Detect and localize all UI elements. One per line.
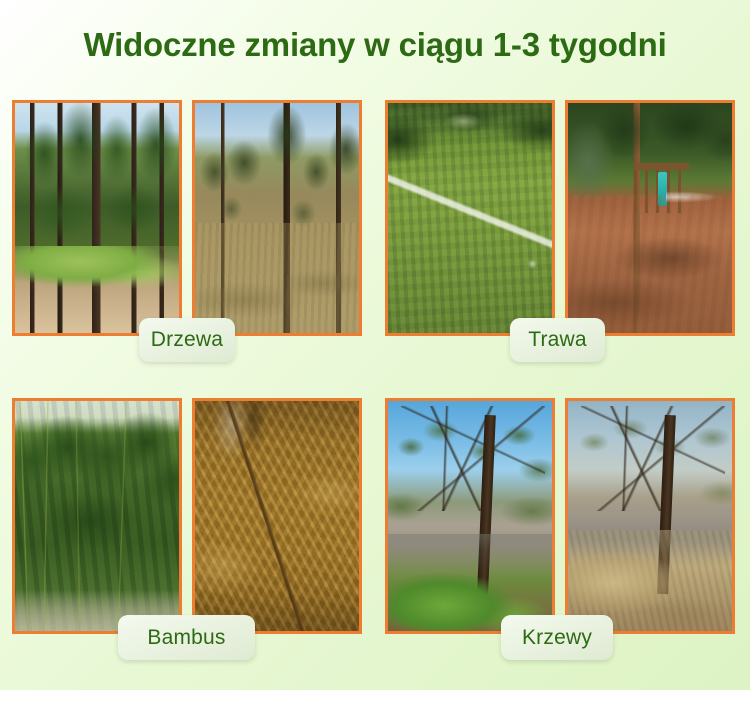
photo-bambus-after[interactable]	[192, 398, 362, 634]
forest-dry-image	[195, 103, 359, 333]
photo-trawa-after[interactable]	[565, 100, 735, 336]
caption-drzewa-label: Drzewa	[151, 328, 223, 352]
photo-trawa-before[interactable]	[385, 100, 555, 336]
photo-bambus-before[interactable]	[12, 398, 182, 634]
caption-bambus-label: Bambus	[147, 626, 225, 650]
shrubs-dry-image	[568, 401, 732, 631]
caption-krzewy-label: Krzewy	[522, 626, 592, 650]
bamboo-dry-image	[195, 401, 359, 631]
tree-canopy-shape	[581, 406, 725, 512]
comparison-card-krzewy[interactable]	[385, 398, 735, 634]
bottom-white-strip	[0, 690, 750, 703]
bamboo-green-image	[15, 401, 179, 631]
comparison-card-drzewa[interactable]	[12, 100, 362, 336]
caption-drzewa: Drzewa	[139, 318, 235, 362]
caption-bambus: Bambus	[118, 615, 255, 660]
lawn-dry-image	[568, 103, 732, 333]
shrubs-green-image	[388, 401, 552, 631]
photo-drzewa-before[interactable]	[12, 100, 182, 336]
forest-green-image	[15, 103, 179, 333]
sprinkler-jet-shape	[666, 181, 715, 213]
comparison-card-bambus[interactable]	[12, 398, 362, 634]
lawn-green-image	[388, 103, 552, 333]
caption-krzewy: Krzewy	[501, 615, 613, 660]
caption-trawa: Trawa	[510, 318, 605, 362]
tree-canopy-shape	[401, 406, 545, 512]
photo-krzewy-after[interactable]	[565, 398, 735, 634]
comparison-card-trawa[interactable]	[385, 100, 735, 336]
caption-trawa-label: Trawa	[528, 328, 587, 352]
photo-drzewa-after[interactable]	[192, 100, 362, 336]
photo-krzewy-before[interactable]	[385, 398, 555, 634]
page-title: Widoczne zmiany w ciągu 1-3 tygodni	[0, 26, 750, 64]
slide-canvas: Widoczne zmiany w ciągu 1-3 tygodni Drze…	[0, 0, 750, 690]
